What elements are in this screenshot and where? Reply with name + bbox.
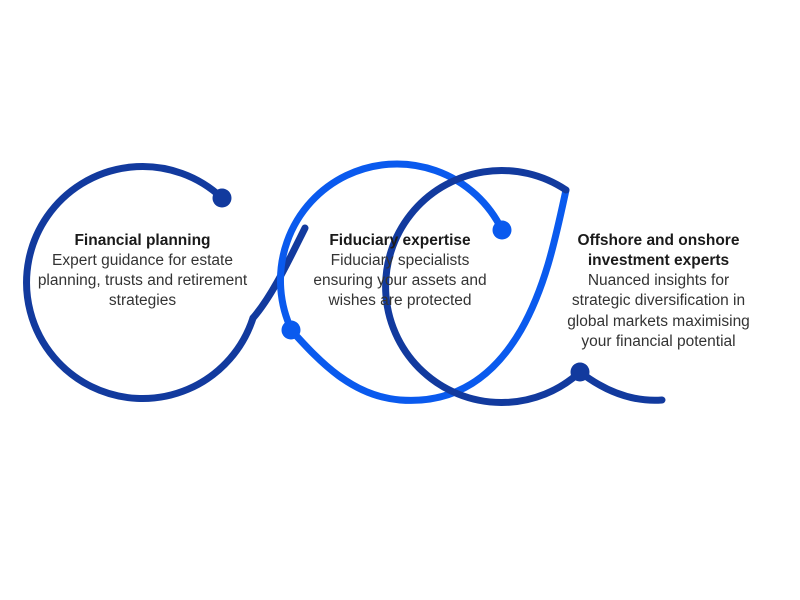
text-block-offshore-onshore: Offshore and onshore investment experts …	[562, 231, 755, 352]
block-body-offshore-onshore: Nuanced insights for strategic diversifi…	[562, 271, 755, 352]
loop-2-secondary-dot	[282, 321, 301, 340]
block-title-offshore-onshore: Offshore and onshore investment experts	[562, 231, 755, 271]
block-title-fiduciary-expertise: Fiduciary expertise	[300, 231, 500, 251]
loop-3-endpoint-dot	[571, 363, 590, 382]
block-body-financial-planning: Expert guidance for estate planning, tru…	[35, 251, 250, 311]
block-body-fiduciary-expertise: Fiduciary specialists ensuring your asse…	[300, 251, 500, 311]
text-block-fiduciary-expertise: Fiduciary expertise Fiduciary specialist…	[300, 231, 500, 312]
loop-1-endpoint-dot	[213, 189, 232, 208]
diagram-canvas: Financial planning Expert guidance for e…	[0, 0, 800, 600]
text-block-financial-planning: Financial planning Expert guidance for e…	[35, 231, 250, 312]
loop-3-connector	[580, 372, 662, 400]
block-title-financial-planning: Financial planning	[35, 231, 250, 251]
